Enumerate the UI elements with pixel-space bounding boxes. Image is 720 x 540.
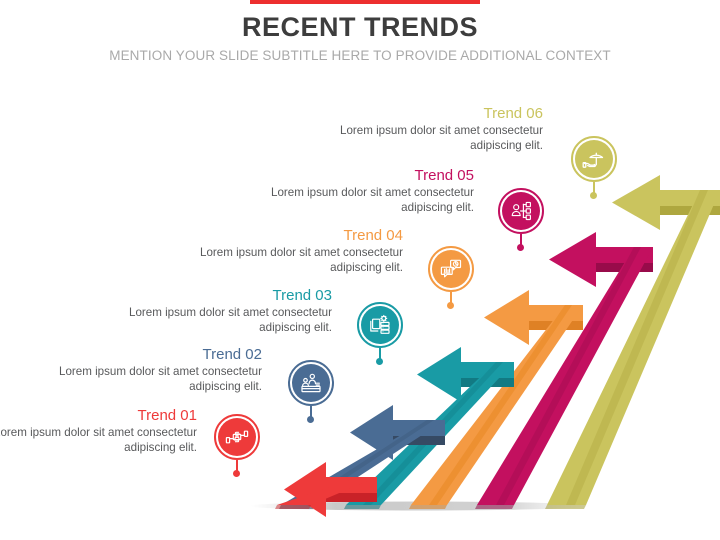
trend-body-04: Lorem ipsum dolor sit amet consectetur a… <box>173 246 403 275</box>
icon-badge-trend-04[interactable] <box>428 246 474 292</box>
chat-chart-icon <box>439 257 463 281</box>
icon-badge-trend-06[interactable] <box>571 136 617 182</box>
text-block-trend-04: Trend 04 Lorem ipsum dolor sit amet cons… <box>173 226 403 275</box>
badge-disc-trend-02 <box>292 364 330 402</box>
presenter-podium-icon <box>299 371 323 395</box>
badge-disc-trend-04 <box>432 250 470 288</box>
hand-umbrella-icon <box>582 147 606 171</box>
text-block-trend-05: Trend 05 Lorem ipsum dolor sit amet cons… <box>244 166 474 215</box>
trend-heading-05: Trend 05 <box>244 166 474 185</box>
badge-disc-trend-03 <box>361 306 399 344</box>
document-server-gear-icon <box>368 313 392 337</box>
trend-body-03: Lorem ipsum dolor sit amet consectetur a… <box>102 306 332 335</box>
text-block-trend-03: Trend 03 Lorem ipsum dolor sit amet cons… <box>102 286 332 335</box>
icon-badge-trend-02[interactable] <box>288 360 334 406</box>
badge-disc-trend-06 <box>575 140 613 178</box>
icon-badge-trend-01[interactable] <box>214 414 260 460</box>
badge-disc-trend-01 <box>218 418 256 456</box>
trend-heading-04: Trend 04 <box>173 226 403 245</box>
text-block-trend-01: Trend 01 Lorem ipsum dolor sit amet cons… <box>0 406 197 455</box>
trend-body-01: Lorem ipsum dolor sit amet consectetur a… <box>0 426 197 455</box>
slide-canvas: RECENT TRENDS MENTION YOUR SLIDE SUBTITL… <box>0 0 720 540</box>
trend-heading-06: Trend 06 <box>313 104 543 123</box>
trend-heading-02: Trend 02 <box>32 345 262 364</box>
badge-disc-trend-05 <box>502 192 540 230</box>
trend-body-02: Lorem ipsum dolor sit amet consectetur a… <box>32 365 262 394</box>
icon-badge-trend-03[interactable] <box>357 302 403 348</box>
trend-heading-01: Trend 01 <box>0 406 197 425</box>
handshake-icon <box>225 425 249 449</box>
org-chart-people-icon <box>509 199 533 223</box>
icon-badge-trend-05[interactable] <box>498 188 544 234</box>
arrow-head-trend-02 <box>350 405 445 460</box>
arrow-ribbon-trend-06 <box>545 175 720 509</box>
text-block-trend-02: Trend 02 Lorem ipsum dolor sit amet cons… <box>32 345 262 394</box>
text-block-trend-06: Trend 06 Lorem ipsum dolor sit amet cons… <box>313 104 543 153</box>
trend-heading-03: Trend 03 <box>102 286 332 305</box>
trend-body-06: Lorem ipsum dolor sit amet consectetur a… <box>313 124 543 153</box>
trend-body-05: Lorem ipsum dolor sit amet consectetur a… <box>244 186 474 215</box>
